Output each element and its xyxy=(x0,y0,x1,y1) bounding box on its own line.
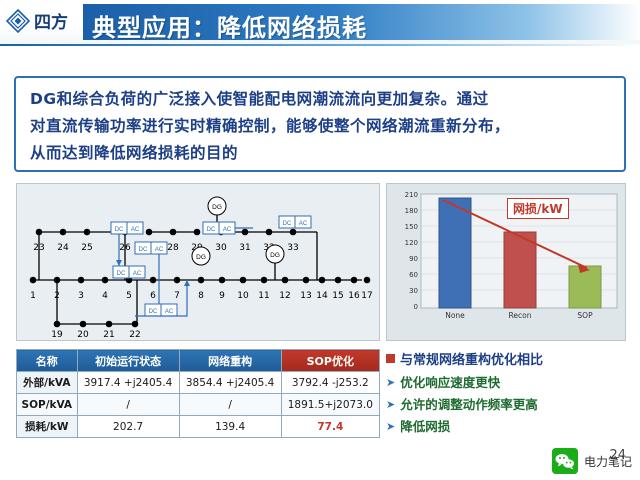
benefits-heading-text: 与常规网络重构优化相比 xyxy=(400,349,543,368)
svg-text:33: 33 xyxy=(287,243,298,253)
svg-text:0: 0 xyxy=(414,303,418,311)
header-divider xyxy=(0,44,640,46)
svg-text:90: 90 xyxy=(409,255,418,263)
svg-text:11: 11 xyxy=(258,291,269,301)
svg-text:AC: AC xyxy=(131,227,140,233)
svg-text:8: 8 xyxy=(198,291,204,301)
benefits-heading: 与常规网络重构优化相比 xyxy=(386,349,626,368)
svg-text:120: 120 xyxy=(405,239,418,247)
chart-annotation-label: 网损/kW xyxy=(507,198,569,219)
cell-loss-initial: 202.7 xyxy=(77,416,179,438)
wechat-watermark: 电力笔记 xyxy=(552,448,632,474)
intro-line-3: 从而达到降低网络损耗的目的 xyxy=(30,140,610,167)
cell-external-initial: 3917.4 +j2405.4 xyxy=(77,372,179,394)
svg-text:23: 23 xyxy=(33,243,44,253)
svg-text:9: 9 xyxy=(219,291,225,301)
cell-sop-recon: / xyxy=(179,394,281,416)
bar-chart-svg: 210 180 150 120 90 60 30 0 None Recon SO… xyxy=(387,184,625,340)
svg-text:24: 24 xyxy=(57,243,69,253)
svg-text:AC: AC xyxy=(155,247,164,253)
benefit-item-2: 允许的调整动作频率更高 xyxy=(400,394,538,416)
svg-text:1: 1 xyxy=(30,291,36,301)
wechat-account-name: 电力笔记 xyxy=(584,453,632,470)
svg-text:180: 180 xyxy=(405,207,418,215)
svg-text:3: 3 xyxy=(78,291,84,301)
cell-loss-sop: 77.4 xyxy=(281,416,379,438)
table-header-recon: 网络重构 xyxy=(179,350,281,372)
svg-text:DG: DG xyxy=(212,204,222,211)
intro-line-1: DG和综合负荷的广泛接入使智能配电网潮流流向更加复杂。通过 xyxy=(30,86,610,113)
svg-text:AC: AC xyxy=(223,227,232,233)
svg-text:None: None xyxy=(445,311,465,320)
list-item: ➤ 优化响应速度更快 xyxy=(386,372,626,394)
svg-text:6: 6 xyxy=(150,291,156,301)
list-item: ➤ 降低网损 xyxy=(386,416,626,438)
svg-text:DC: DC xyxy=(149,309,158,315)
svg-text:DC: DC xyxy=(139,247,148,253)
cell-external-recon: 3854.4 +j2405.4 xyxy=(179,372,281,394)
svg-text:20: 20 xyxy=(77,330,89,340)
table-row: 损耗/kW 202.7 139.4 77.4 xyxy=(17,416,380,438)
svg-text:25: 25 xyxy=(81,243,92,253)
svg-text:19: 19 xyxy=(51,330,63,340)
svg-text:AC: AC xyxy=(165,309,174,315)
svg-text:31: 31 xyxy=(239,243,250,253)
svg-text:4: 4 xyxy=(102,291,108,301)
svg-text:Recon: Recon xyxy=(509,311,532,320)
svg-text:21: 21 xyxy=(103,330,114,340)
table-row: SOP/kVA / / 1891.5+j2073.0 xyxy=(17,394,380,416)
brand-name: 四方 xyxy=(34,8,68,33)
slide-header: 四方 典型应用：降低网络损耗 xyxy=(0,0,640,46)
svg-text:DG: DG xyxy=(196,254,206,261)
svg-text:150: 150 xyxy=(405,223,418,231)
svg-text:5: 5 xyxy=(126,291,132,301)
diamond-icon xyxy=(6,9,30,33)
loss-bar-chart: 210 180 150 120 90 60 30 0 None Recon SO… xyxy=(386,183,626,341)
arrow-bullet-icon: ➤ xyxy=(386,394,395,416)
svg-text:16: 16 xyxy=(348,291,360,301)
svg-text:DC: DC xyxy=(117,271,126,277)
benefit-item-3: 降低网损 xyxy=(400,416,450,438)
cell-loss-recon: 139.4 xyxy=(179,416,281,438)
svg-text:10: 10 xyxy=(237,291,249,301)
table-header-row: 名称 初始运行状态 网络重构 SOP优化 xyxy=(17,350,380,372)
svg-text:28: 28 xyxy=(167,243,179,253)
svg-text:DC: DC xyxy=(115,227,124,233)
row-label-sop: SOP/kVA xyxy=(17,394,78,416)
svg-text:12: 12 xyxy=(279,291,290,301)
row-label-external: 外部/kVA xyxy=(17,372,78,394)
square-bullet-icon xyxy=(386,354,395,363)
svg-text:7: 7 xyxy=(174,291,180,301)
svg-text:15: 15 xyxy=(332,291,343,301)
cell-sop-initial: / xyxy=(77,394,179,416)
table-header-initial: 初始运行状态 xyxy=(77,350,179,372)
svg-text:60: 60 xyxy=(409,271,418,279)
table-header-sop: SOP优化 xyxy=(281,350,379,372)
svg-text:14: 14 xyxy=(316,291,328,301)
svg-text:SOP: SOP xyxy=(577,311,593,320)
svg-text:AC: AC xyxy=(133,271,142,277)
svg-text:30: 30 xyxy=(215,243,227,253)
svg-text:13: 13 xyxy=(300,291,311,301)
cell-sop-sop: 1891.5+j2073.0 xyxy=(281,394,379,416)
svg-text:30: 30 xyxy=(409,287,418,295)
arrow-bullet-icon: ➤ xyxy=(386,372,395,394)
benefits-list: 与常规网络重构优化相比 ➤ 优化响应速度更快 ➤ 允许的调整动作频率更高 ➤ 降… xyxy=(386,349,626,449)
svg-text:AC: AC xyxy=(299,221,308,227)
intro-line-2: 对直流传输功率进行实时精确控制，能够使整个网络潮流重新分布， xyxy=(30,113,610,140)
svg-text:DC: DC xyxy=(207,227,216,233)
arrow-bullet-icon: ➤ xyxy=(386,416,395,438)
row-label-loss: 损耗/kW xyxy=(17,416,78,438)
network-topology-diagram: 232425 262728 293031 3233 123 456 789 10… xyxy=(16,183,380,341)
wechat-icon xyxy=(552,448,578,474)
topology-svg: 232425 262728 293031 3233 123 456 789 10… xyxy=(17,184,379,340)
list-item: ➤ 允许的调整动作频率更高 xyxy=(386,394,626,416)
svg-text:26: 26 xyxy=(119,243,131,253)
svg-text:17: 17 xyxy=(361,291,372,301)
svg-text:DG: DG xyxy=(270,252,280,259)
svg-text:2: 2 xyxy=(54,291,60,301)
benefit-item-1: 优化响应速度更快 xyxy=(400,372,500,394)
svg-text:DC: DC xyxy=(283,221,292,227)
svg-text:22: 22 xyxy=(129,330,140,340)
results-table: 名称 初始运行状态 网络重构 SOP优化 外部/kVA 3917.4 +j240… xyxy=(16,349,380,438)
table-row: 外部/kVA 3917.4 +j2405.4 3854.4 +j2405.4 3… xyxy=(17,372,380,394)
table-header-name: 名称 xyxy=(17,350,78,372)
svg-text:210: 210 xyxy=(405,191,418,199)
intro-text-box: DG和综合负荷的广泛接入使智能配电网潮流流向更加复杂。通过 对直流传输功率进行实… xyxy=(14,76,626,172)
page-title: 典型应用：降低网络损耗 xyxy=(92,8,367,43)
cell-external-sop: 3792.4 -j253.2 xyxy=(281,372,379,394)
brand-logo: 四方 xyxy=(6,8,68,33)
